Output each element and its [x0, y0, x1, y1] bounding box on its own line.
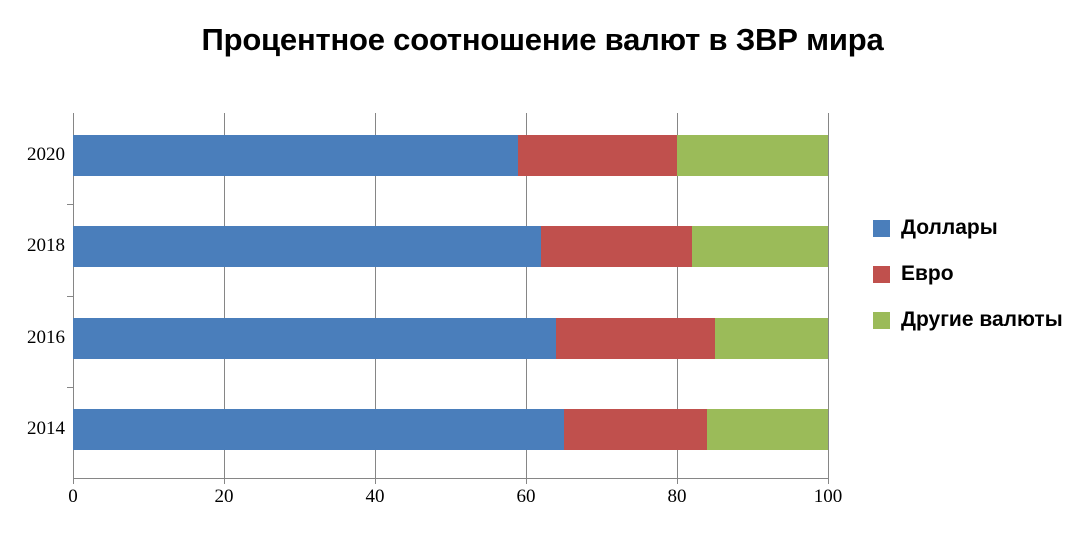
x-axis-label: 40: [340, 486, 410, 508]
chart-title: Процентное соотношение валют в ЗВР мира: [0, 22, 1085, 58]
x-axis-label: 100: [793, 486, 863, 508]
x-axis-line: [73, 478, 829, 479]
bar-row-2016: [73, 318, 828, 359]
legend-label: Доллары: [901, 216, 998, 240]
y-axis-label-2018: 2018: [3, 235, 65, 257]
y-axis-label-2016: 2016: [3, 327, 65, 349]
x-axis-label: 20: [189, 486, 259, 508]
y-axis-tick: [67, 296, 73, 297]
bar-segment: [73, 226, 541, 267]
y-axis-tick: [67, 387, 73, 388]
x-axis-tick: [526, 478, 527, 484]
legend-label: Евро: [901, 262, 954, 286]
x-axis-label: 60: [491, 486, 561, 508]
bar-segment: [677, 135, 828, 176]
legend-swatch-icon: [873, 312, 890, 329]
y-axis-label-2020: 2020: [3, 144, 65, 166]
plot-area: [73, 113, 828, 478]
x-axis-label: 0: [38, 486, 108, 508]
x-axis-tick: [375, 478, 376, 484]
bar-row-2018: [73, 226, 828, 267]
bar-row-2020: [73, 135, 828, 176]
bar-segment: [564, 409, 707, 450]
x-axis-tick: [224, 478, 225, 484]
legend-item[interactable]: Евро: [873, 251, 1063, 297]
chart-legend: ДолларыЕвроДругие валюты: [873, 205, 1063, 343]
bar-segment: [707, 409, 828, 450]
legend-swatch-icon: [873, 266, 890, 283]
gridline: [828, 113, 829, 478]
bar-segment: [715, 318, 828, 359]
x-axis-label: 80: [642, 486, 712, 508]
x-axis-tick: [828, 478, 829, 484]
bar-segment: [73, 135, 518, 176]
chart-container: Процентное соотношение валют в ЗВР мира …: [0, 0, 1085, 533]
bar-row-2014: [73, 409, 828, 450]
bar-segment: [518, 135, 677, 176]
x-axis-tick: [677, 478, 678, 484]
bar-segment: [556, 318, 715, 359]
y-axis-tick: [67, 204, 73, 205]
bar-segment: [73, 318, 556, 359]
bar-segment: [541, 226, 692, 267]
x-axis-tick: [73, 478, 74, 484]
legend-item[interactable]: Доллары: [873, 205, 1063, 251]
legend-label: Другие валюты: [901, 308, 1063, 332]
y-axis-label-2014: 2014: [3, 418, 65, 440]
bar-segment: [692, 226, 828, 267]
legend-item[interactable]: Другие валюты: [873, 297, 1063, 343]
legend-swatch-icon: [873, 220, 890, 237]
bar-segment: [73, 409, 564, 450]
